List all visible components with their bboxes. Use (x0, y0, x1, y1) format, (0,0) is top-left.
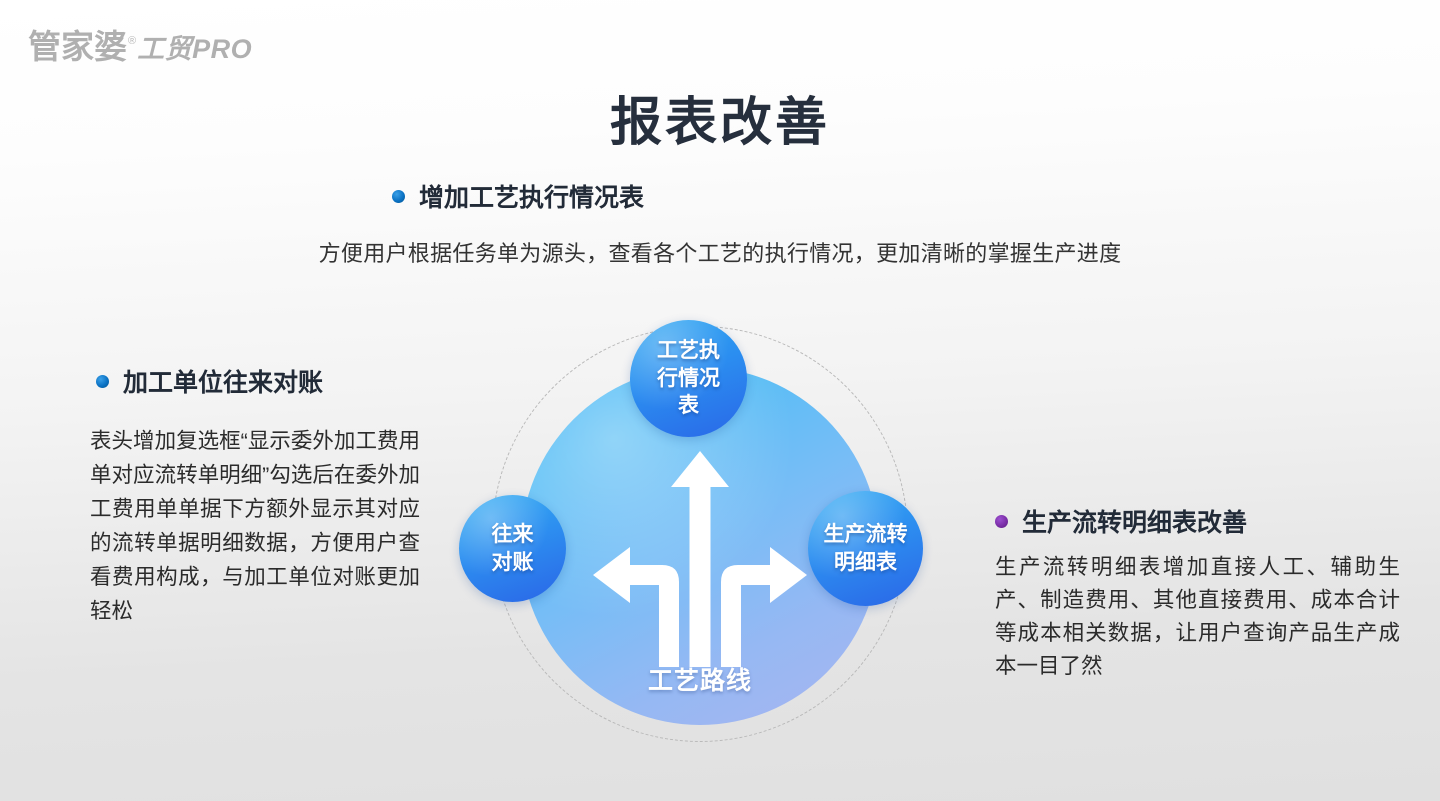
node-process-execution-report[interactable]: 工艺执 行情况 表 (630, 320, 747, 437)
left-section-heading-label: 加工单位往来对账 (123, 363, 323, 399)
node-line: 表 (678, 392, 699, 420)
right-section-paragraph: 生产流转明细表增加直接人工、辅助生产、制造费用、其他直接费用、成本合计等成本相关… (995, 551, 1400, 683)
bullet-dot-icon (995, 515, 1008, 528)
bullet-dot-icon (392, 190, 405, 203)
top-section-heading-label: 增加工艺执行情况表 (419, 178, 644, 214)
node-line: 生产流转 (824, 521, 908, 549)
brand-logo: 管家婆 ® 工贸PRO (28, 30, 252, 63)
right-section-heading: 生产流转明细表改善 (995, 503, 1405, 539)
process-diagram: 工艺路线 工艺执 行情况 表 往来 对账 生产流转 明细表 (440, 310, 960, 720)
right-section: 生产流转明细表改善 生产流转明细表增加直接人工、辅助生产、制造费用、其他直接费用… (995, 503, 1405, 683)
node-line: 明细表 (834, 549, 897, 577)
page-title: 报表改善 (0, 80, 1440, 155)
left-section-paragraph: 表头增加复选框“显示委外加工费用单对应流转单明细”勾选后在委外加工费用单单据下方… (90, 424, 420, 628)
node-account-reconciliation[interactable]: 往来 对账 (459, 495, 566, 602)
brand-logo-name: 管家婆 (28, 30, 127, 63)
top-section-description: 方便用户根据任务单为源头，查看各个工艺的执行情况，更加清晰的掌握生产进度 (0, 236, 1440, 268)
node-line: 往来 (492, 521, 534, 549)
node-production-flow-detail[interactable]: 生产流转 明细表 (808, 491, 923, 606)
node-line: 工艺执 (657, 337, 720, 365)
left-section: 加工单位往来对账 表头增加复选框“显示委外加工费用单对应流转单明细”勾选后在委外… (90, 363, 430, 628)
registered-trademark-icon: ® (128, 36, 136, 47)
node-line: 对账 (492, 549, 534, 577)
top-section-heading: 增加工艺执行情况表 (392, 178, 1440, 214)
node-line: 行情况 (657, 365, 720, 393)
bullet-dot-icon (96, 375, 109, 388)
left-section-heading: 加工单位往来对账 (96, 363, 430, 399)
brand-logo-product: 工贸PRO (137, 36, 252, 63)
slide-canvas: 管家婆 ® 工贸PRO 报表改善 增加工艺执行情况表 方便用户根据任务单为源头，… (0, 0, 1440, 801)
right-section-heading-label: 生产流转明细表改善 (1022, 503, 1247, 539)
top-section: 增加工艺执行情况表 方便用户根据任务单为源头，查看各个工艺的执行情况，更加清晰的… (0, 178, 1440, 268)
